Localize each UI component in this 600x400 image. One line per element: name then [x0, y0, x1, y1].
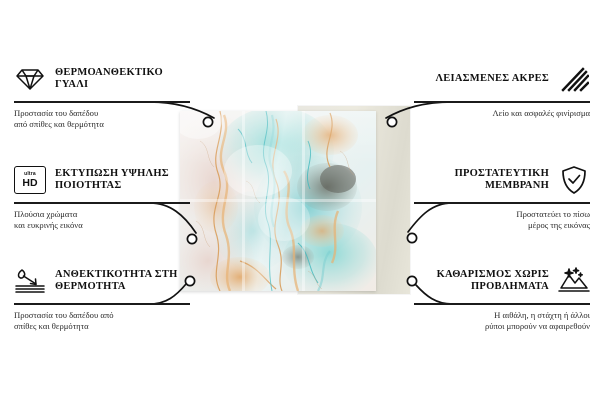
feature-description: Η αιθάλη, η στάχτη ή άλλοιρύποι μπορούν …: [414, 310, 590, 332]
feature-header: ΠΡΟΣΤΑΤΕΥΤΙΚΗ ΜΕΜΒΡΑΝΗ: [414, 163, 590, 197]
feature-header: ΚΑΘΑΡΙΣΜΟΣ ΧΩΡΙΣ ΠΡΟΒΛΗΜΑΤΑ: [414, 264, 590, 298]
diamond-icon: [14, 63, 46, 95]
feature-header: ΛΕΙΑΣΜΕΝΕΣ ΑΚΡΕΣ: [414, 62, 590, 96]
feature-rule: [414, 303, 590, 305]
feature-rule: [14, 202, 190, 204]
feature-title: ΑΝΘΕΚΤΙΚΟΤΗΤΑ ΣΤΗ ΘΕΡΜΟΤΗΤΑ: [55, 269, 190, 294]
feature-heat-durability: ΑΝΘΕΚΤΙΚΟΤΗΤΑ ΣΤΗ ΘΕΡΜΟΤΗΤΑ Προστασία το…: [14, 264, 190, 332]
sparkle-wipe-icon: [558, 265, 590, 297]
feature-title: ΘΕΡΜΟΑΝΘΕΚΤΙΚΟ ΓΥΑΛΙ: [55, 67, 190, 92]
feature-polished-edges: ΛΕΙΑΣΜΕΝΕΣ ΑΚΡΕΣ Λείο και ασφαλές φινίρι…: [414, 62, 590, 119]
infographic-root: ΘΕΡΜΟΑΝΘΕΚΤΙΚΟ ΓΥΑΛΙ Προστασία του δαπέδ…: [0, 0, 600, 400]
feature-easy-cleaning: ΚΑΘΑΡΙΣΜΟΣ ΧΩΡΙΣ ΠΡΟΒΛΗΜΑΤΑ Η αιθάλη, η …: [414, 264, 590, 332]
feature-header: ΘΕΡΜΟΑΝΘΕΚΤΙΚΟ ΓΥΑΛΙ: [14, 62, 190, 96]
feature-description: Λείο και ασφαλές φινίρισμα: [414, 108, 590, 119]
feature-description: Πλούσια χρώματακαι ευκρινής εικόνα: [14, 209, 190, 231]
feature-rule: [14, 303, 190, 305]
feature-rule: [414, 101, 590, 103]
feature-rule: [14, 101, 190, 103]
flame-deflect-icon: [14, 265, 46, 297]
feature-title: ΕΚΤΥΠΩΣΗ ΥΨΗΛΗΣ ΠΟΙΟΤΗΤΑΣ: [55, 168, 190, 193]
shield-check-icon: [558, 164, 590, 196]
product-glass-panel: [180, 111, 376, 291]
feature-protective-membrane: ΠΡΟΣΤΑΤΕΥΤΙΚΗ ΜΕΜΒΡΑΝΗ Προστατεύει το πί…: [414, 163, 590, 231]
feature-title: ΛΕΙΑΣΜΕΝΕΣ ΑΚΡΕΣ: [435, 73, 549, 85]
feature-description: Προστατεύει το πίσωμέρος της εικόνας: [414, 209, 590, 231]
feature-description: Προστασία του δαπέδουαπό σπίθες και θερμ…: [14, 108, 190, 130]
feature-header: ΑΝΘΕΚΤΙΚΟΤΗΤΑ ΣΤΗ ΘΕΡΜΟΤΗΤΑ: [14, 264, 190, 298]
feature-rule: [414, 202, 590, 204]
glass-reflection-line-3: [180, 199, 376, 202]
feature-description: Προστασία του δαπέδου απόσπίθες και θερμ…: [14, 310, 190, 332]
feature-high-quality-print: ultra HD ΕΚΤΥΠΩΣΗ ΥΨΗΛΗΣ ΠΟΙΟΤΗΤΑΣ Πλούσ…: [14, 163, 190, 231]
feature-title: ΚΑΘΑΡΙΣΜΟΣ ΧΩΡΙΣ ΠΡΟΒΛΗΜΑΤΑ: [414, 269, 549, 294]
feature-title: ΠΡΟΣΤΑΤΕΥΤΙΚΗ ΜΕΜΒΡΑΝΗ: [414, 168, 549, 193]
feature-header: ultra HD ΕΚΤΥΠΩΣΗ ΥΨΗΛΗΣ ΠΟΙΟΤΗΤΑΣ: [14, 163, 190, 197]
ultra-hd-icon: ultra HD: [14, 164, 46, 196]
diagonal-lines-icon: [558, 63, 590, 95]
product-image: [180, 106, 410, 296]
ultra-hd-large-label: HD: [22, 178, 37, 189]
feature-heat-resistant-glass: ΘΕΡΜΟΑΝΘΕΚΤΙΚΟ ΓΥΑΛΙ Προστασία του δαπέδ…: [14, 62, 190, 130]
